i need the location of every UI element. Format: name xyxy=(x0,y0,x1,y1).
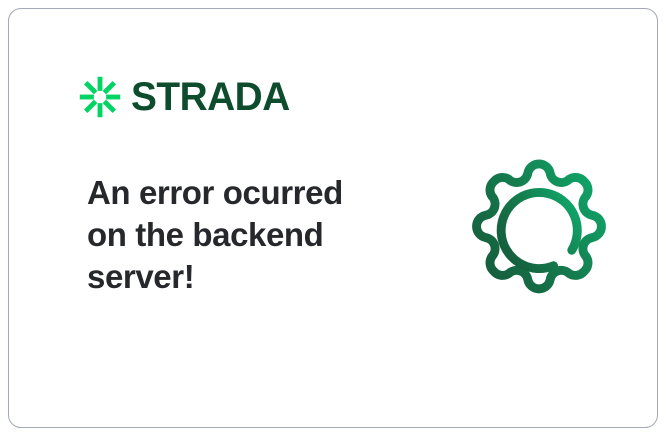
error-screen: STRADA An error ocurred on the backend s… xyxy=(0,0,666,436)
error-message: An error ocurred on the backend server! xyxy=(87,172,387,298)
brand-lockup: STRADA xyxy=(78,75,295,119)
error-card: STRADA An error ocurred on the backend s… xyxy=(8,8,658,428)
strada-asterisk-mark-icon xyxy=(78,75,122,119)
brand-wordmark: STRADA xyxy=(131,77,290,117)
